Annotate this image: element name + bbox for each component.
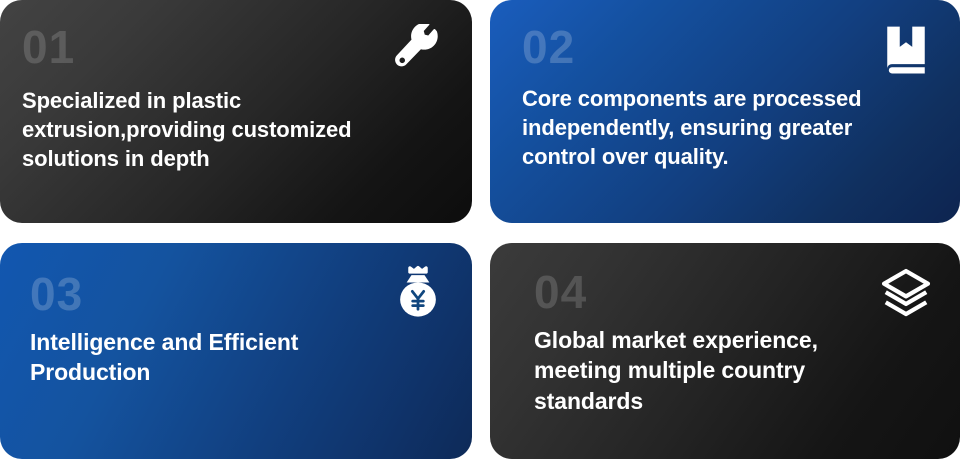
card-text-02: Core components are processed independen…: [522, 84, 934, 171]
card-number-04: 04: [534, 269, 934, 315]
feature-card-grid: 01 Specialized in plastic extrusion,prov…: [0, 0, 960, 459]
book-bookmark-icon: [878, 22, 934, 78]
card-text-04: Global market experience, meeting multip…: [534, 325, 934, 416]
card-text-01: Specialized in plastic extrusion,providi…: [22, 86, 446, 173]
money-bag-yen-icon: [390, 265, 446, 321]
card-text-03: Intelligence and Efficient Production: [30, 327, 446, 388]
feature-card-03[interactable]: 03 Intelligence and Efficient Production: [0, 243, 472, 459]
wrench-icon: [390, 22, 446, 78]
feature-card-01[interactable]: 01 Specialized in plastic extrusion,prov…: [0, 0, 472, 223]
card-number-02: 02: [522, 24, 934, 70]
card-number-01: 01: [22, 24, 446, 70]
card-number-03: 03: [30, 271, 446, 317]
feature-card-04[interactable]: 04 Global market experience, meeting mul…: [490, 243, 960, 459]
feature-card-02[interactable]: 02 Core components are processed indepen…: [490, 0, 960, 223]
layers-stack-icon: [878, 265, 934, 321]
